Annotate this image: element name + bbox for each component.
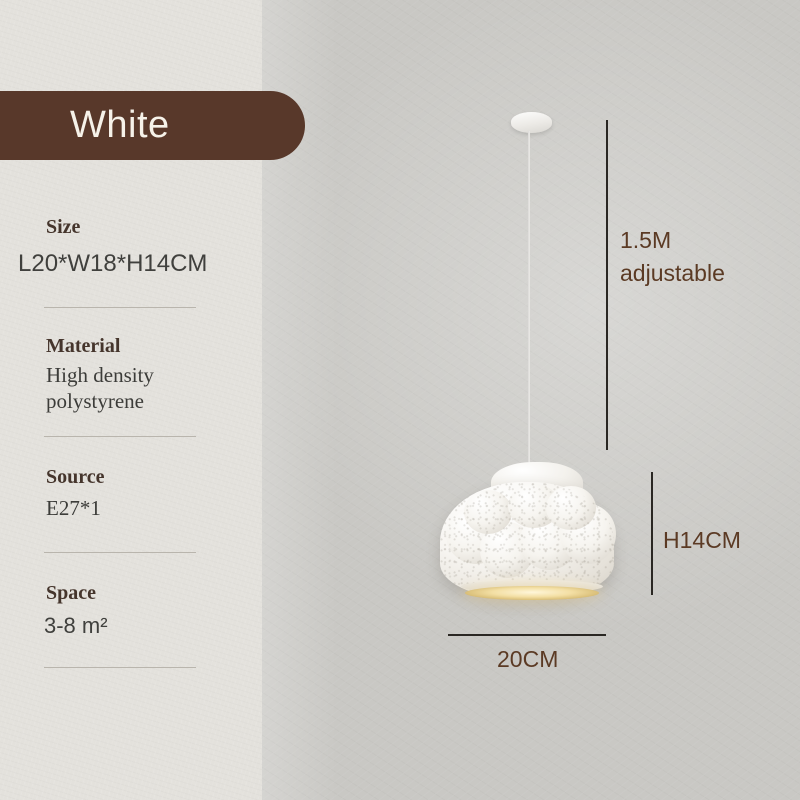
drop-measure-line xyxy=(606,120,608,450)
spec-value-source: E27*1 xyxy=(0,496,262,522)
spec-label-space: Space xyxy=(0,581,262,606)
spec-value-material-line2: polystyrene xyxy=(0,389,262,415)
height-measure-line xyxy=(651,472,653,595)
spec-divider-2 xyxy=(44,436,196,437)
shade-inner-glow xyxy=(465,586,599,600)
spec-item-material: Material High density polystyrene xyxy=(0,334,262,437)
drop-length-value: 1.5M xyxy=(620,227,671,253)
spec-value-space: 3-8 m² xyxy=(0,612,262,641)
spec-value-material-line1: High density xyxy=(0,363,262,389)
height-label: H14CM xyxy=(663,524,741,557)
drop-length-label: 1.5M adjustable xyxy=(620,224,725,289)
spec-item-space: Space 3-8 m² xyxy=(0,581,262,668)
suspension-cord xyxy=(528,131,530,469)
spec-item-size: Size L20*W18*H14CM xyxy=(0,215,262,308)
drop-length-adjustable: adjustable xyxy=(620,260,725,286)
width-label: 20CM xyxy=(497,643,558,676)
spec-label-size: Size xyxy=(0,215,262,240)
color-variant-badge[interactable]: White xyxy=(0,91,305,160)
spec-divider-1 xyxy=(44,307,196,308)
color-variant-label: White xyxy=(70,104,170,147)
spec-item-source: Source E27*1 xyxy=(0,465,262,553)
spec-divider-4 xyxy=(44,667,196,668)
cloud-lamp-shade xyxy=(434,460,620,605)
spec-label-source: Source xyxy=(0,465,262,490)
spec-label-material: Material xyxy=(0,334,262,359)
ceiling-canopy xyxy=(511,112,552,133)
spec-value-size: L20*W18*H14CM xyxy=(0,248,262,279)
product-spec-image: White Size L20*W18*H14CM Material High d… xyxy=(0,0,800,800)
specification-list: Size L20*W18*H14CM Material High density… xyxy=(0,215,262,668)
spec-divider-3 xyxy=(44,552,196,553)
width-measure-line xyxy=(448,634,606,636)
